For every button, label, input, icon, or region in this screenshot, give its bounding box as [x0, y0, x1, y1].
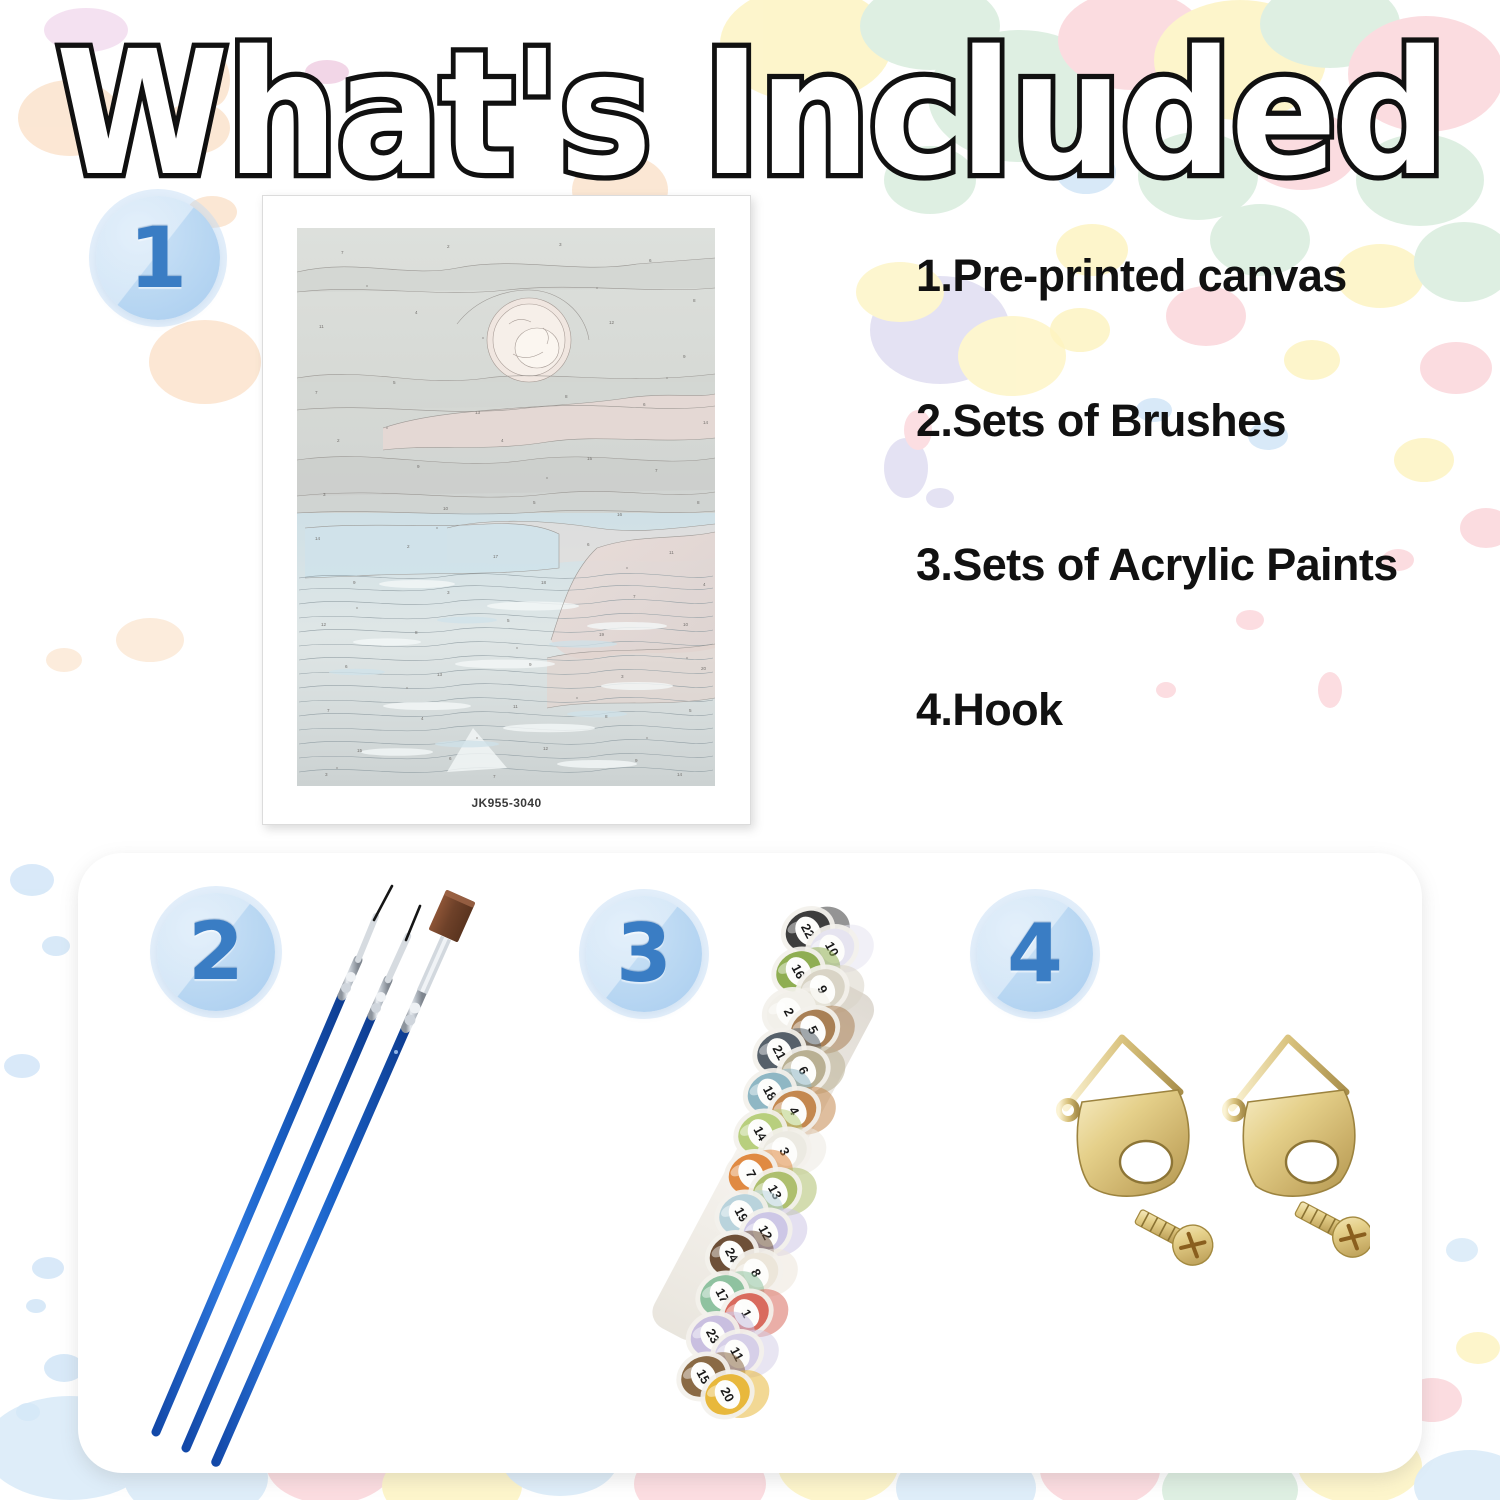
included-items-list: 1.Pre-printed canvas 2.Sets of Brushes 3… — [916, 252, 1488, 734]
svg-text:19: 19 — [599, 632, 605, 637]
svg-text:2: 2 — [337, 438, 340, 443]
svg-text:13: 13 — [437, 672, 443, 677]
svg-text:3: 3 — [621, 674, 624, 679]
svg-text:9: 9 — [683, 354, 686, 359]
svg-text:7: 7 — [341, 250, 344, 255]
list-item: 1.Pre-printed canvas — [916, 252, 1488, 300]
infographic-root: What's Included 1 — [0, 0, 1500, 1500]
svg-text:5: 5 — [689, 708, 692, 713]
svg-text:18: 18 — [541, 580, 547, 585]
svg-text:8: 8 — [415, 630, 418, 635]
svg-text:6: 6 — [587, 542, 590, 547]
svg-text:10: 10 — [683, 622, 689, 627]
svg-text:8: 8 — [693, 298, 696, 303]
d-ring-hanger — [1059, 1038, 1189, 1196]
badge-4-number: 4 — [1007, 914, 1063, 994]
svg-text:6: 6 — [643, 402, 646, 407]
svg-text:6: 6 — [345, 664, 348, 669]
svg-text:5: 5 — [533, 500, 536, 505]
svg-text:7: 7 — [315, 390, 318, 395]
svg-text:10: 10 — [443, 506, 449, 511]
svg-text:2: 2 — [447, 244, 450, 249]
canvas-artwork: 723 6811 4129 7513 8614 294 1573 10516 8… — [297, 228, 715, 786]
svg-text:3: 3 — [325, 772, 328, 777]
badge-3: 3 — [586, 896, 702, 1012]
svg-text:15: 15 — [587, 456, 593, 461]
svg-text:4: 4 — [703, 582, 706, 587]
svg-text:4: 4 — [501, 438, 504, 443]
screw — [1129, 1198, 1220, 1272]
canvas-sku-label: JK955-3040 — [263, 796, 750, 810]
svg-text:12: 12 — [543, 746, 549, 751]
svg-text:20: 20 — [701, 666, 707, 671]
badge-2-number: 2 — [188, 912, 244, 992]
svg-text:14: 14 — [677, 772, 683, 777]
svg-text:9: 9 — [529, 662, 532, 667]
svg-text:3: 3 — [323, 492, 326, 497]
badge-4: 4 — [977, 896, 1093, 1012]
svg-text:14: 14 — [703, 420, 709, 425]
list-item: 2.Sets of Brushes — [916, 397, 1488, 445]
svg-text:8: 8 — [565, 394, 568, 399]
svg-text:14: 14 — [315, 536, 321, 541]
svg-text:8: 8 — [605, 714, 608, 719]
page-title-text: What's Included — [55, 28, 1444, 200]
svg-text:12: 12 — [321, 622, 327, 627]
badge-2: 2 — [157, 893, 275, 1011]
hook-hardware-icon — [1020, 1020, 1370, 1320]
page-title: What's Included — [0, 28, 1500, 176]
d-ring-hanger — [1225, 1038, 1355, 1196]
svg-text:3: 3 — [559, 242, 562, 247]
svg-text:11: 11 — [669, 550, 674, 555]
svg-text:8: 8 — [697, 500, 700, 505]
svg-text:11: 11 — [319, 324, 324, 329]
svg-text:4: 4 — [421, 716, 424, 721]
svg-text:11: 11 — [513, 704, 518, 709]
svg-text:5: 5 — [393, 380, 396, 385]
paint-by-numbers-outline-icon: 723 6811 4129 7513 8614 294 1573 10516 8… — [297, 228, 715, 786]
list-item: 3.Sets of Acrylic Paints — [916, 541, 1488, 589]
svg-text:5: 5 — [507, 618, 510, 623]
svg-text:9: 9 — [353, 580, 356, 585]
svg-text:7: 7 — [633, 594, 636, 599]
screw — [1289, 1190, 1370, 1264]
svg-text:15: 15 — [357, 748, 363, 753]
badge-1: 1 — [96, 196, 220, 320]
svg-text:6: 6 — [649, 258, 652, 263]
svg-text:4: 4 — [415, 310, 418, 315]
svg-text:16: 16 — [617, 512, 623, 517]
svg-text:7: 7 — [655, 468, 658, 473]
svg-text:7: 7 — [493, 774, 496, 779]
svg-text:13: 13 — [475, 410, 481, 415]
svg-text:12: 12 — [609, 320, 615, 325]
svg-text:9: 9 — [417, 464, 420, 469]
svg-text:17: 17 — [493, 554, 499, 559]
canvas-card: 723 6811 4129 7513 8614 294 1573 10516 8… — [262, 195, 751, 825]
svg-text:7: 7 — [327, 708, 330, 713]
badge-1-number: 1 — [129, 216, 187, 300]
svg-text:9: 9 — [635, 758, 638, 763]
svg-text:3: 3 — [447, 590, 450, 595]
badge-3-number: 3 — [616, 914, 672, 994]
list-item: 4.Hook — [916, 686, 1488, 734]
svg-text:2: 2 — [407, 544, 410, 549]
svg-text:6: 6 — [449, 756, 452, 761]
